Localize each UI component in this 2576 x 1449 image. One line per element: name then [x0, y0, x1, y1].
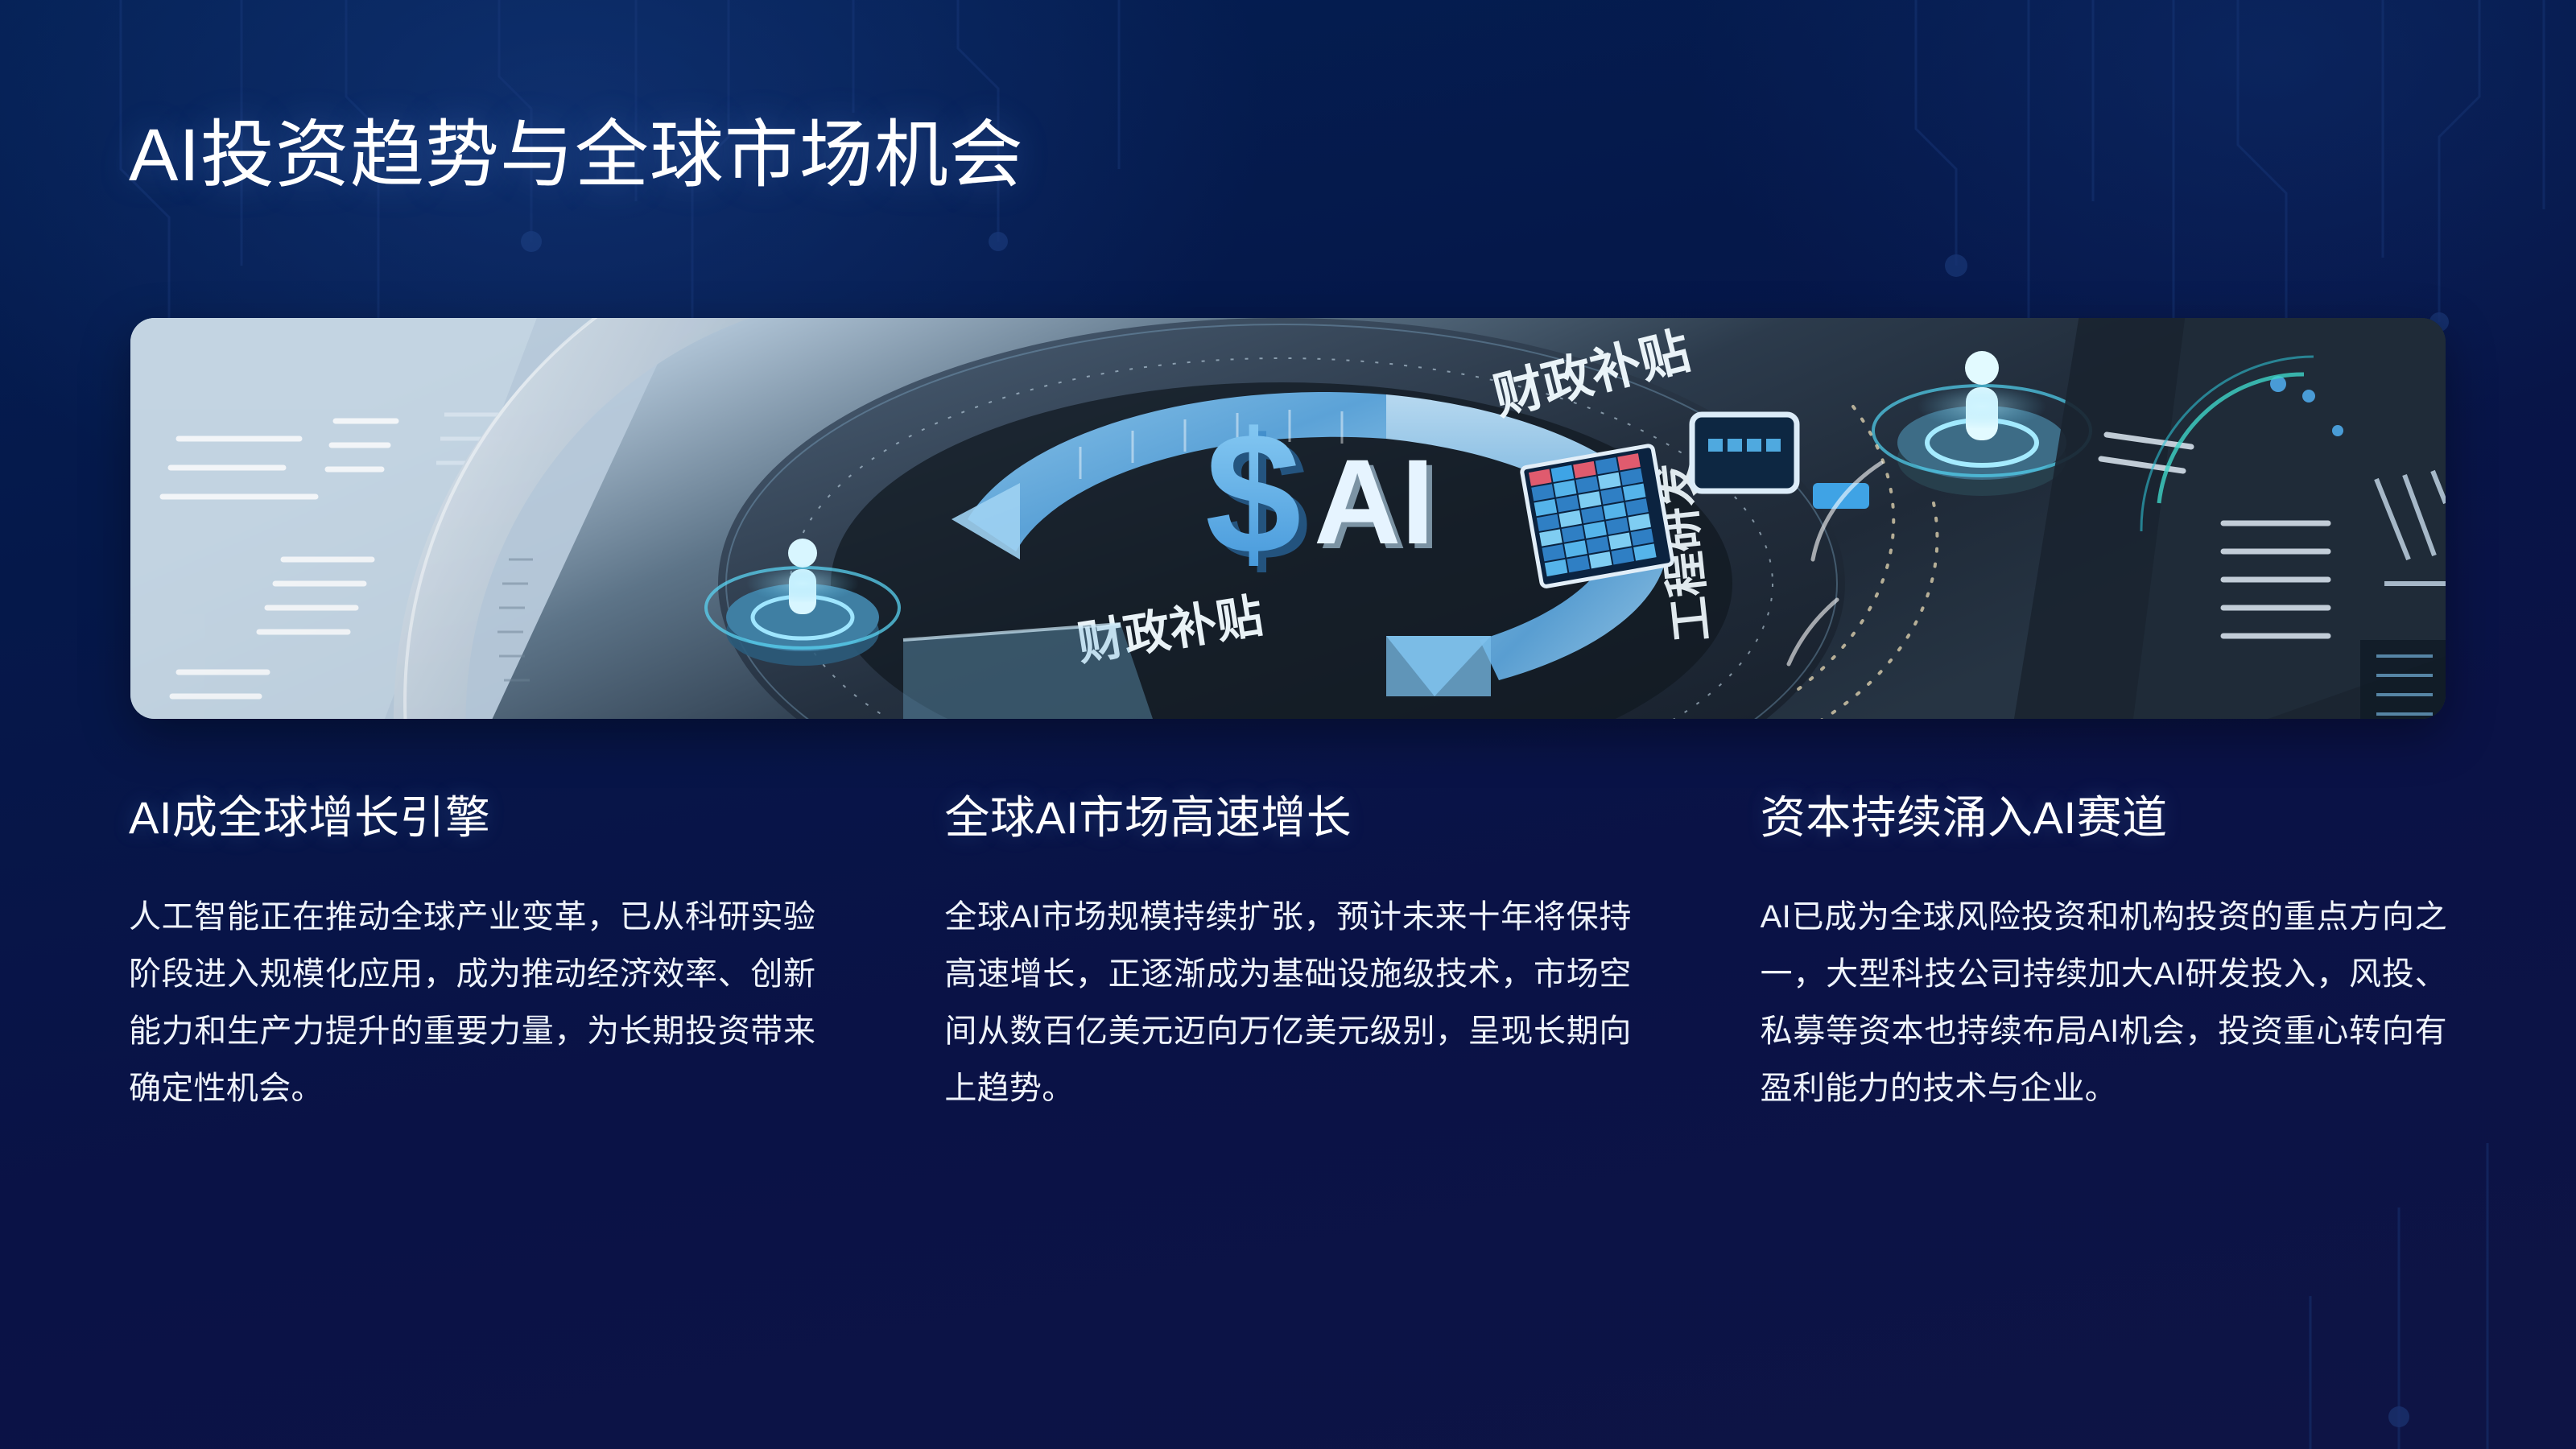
svg-text:AI: AI [1314, 434, 1435, 569]
page-title: AI投资趋势与全球市场机会 [129, 118, 1024, 192]
feature-column-3: 资本持续涌入AI赛道 AI已成为全球风险投资和机构投资的重点方向之一，大型科技公… [1761, 793, 2447, 1117]
svg-text:$: $ [1205, 396, 1302, 590]
circuit-pattern-background [0, 0, 2576, 1449]
column-1-body: 人工智能正在推动全球产业变革，已从科研实验阶段进入规模化应用，成为推动经济效率、… [129, 889, 815, 1118]
column-2-body: 全球AI市场规模持续扩张，预计未来十年将保持高速增长，正逐渐成为基础设施级技术，… [944, 889, 1631, 1118]
column-1-heading: AI成全球增长引擎 [129, 793, 815, 844]
slide-root: AI投资趋势与全球市场机会 [0, 0, 2576, 1449]
feature-columns: AI成全球增长引擎 人工智能正在推动全球产业变革，已从科研实验阶段进入规模化应用… [129, 793, 2447, 1117]
hero-image: $ $ AI AI 财政补贴 财政补贴 工程研发 [130, 318, 2446, 719]
column-2-heading: 全球AI市场高速增长 [944, 793, 1631, 844]
column-3-body: AI已成为全球风险投资和机构投资的重点方向之一，大型科技公司持续加大AI研发投入… [1761, 889, 2447, 1118]
hero-illustration-svg: $ $ AI AI 财政补贴 财政补贴 工程研发 [130, 318, 2446, 719]
feature-column-1: AI成全球增长引擎 人工智能正在推动全球产业变革，已从科研实验阶段进入规模化应用… [129, 793, 815, 1117]
feature-column-2: 全球AI市场高速增长 全球AI市场规模持续扩张，预计未来十年将保持高速增长，正逐… [944, 793, 1631, 1117]
column-3-heading: 资本持续涌入AI赛道 [1761, 793, 2447, 844]
